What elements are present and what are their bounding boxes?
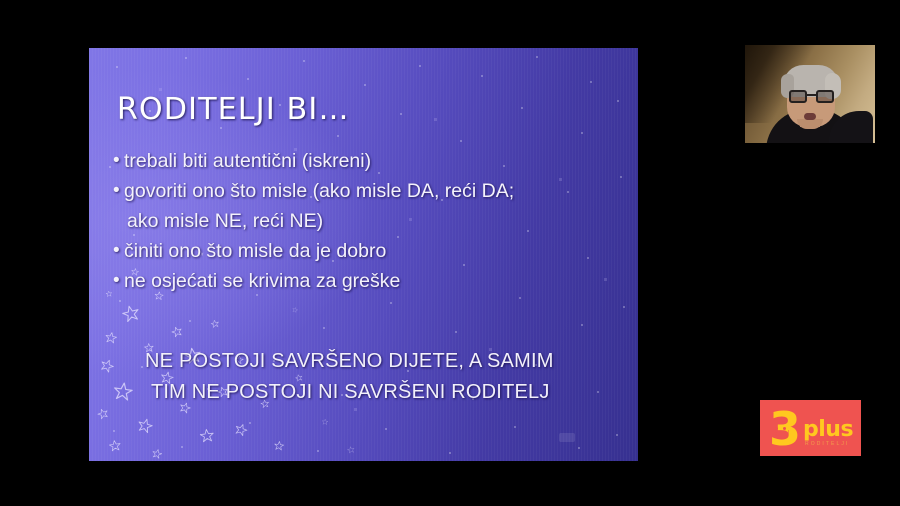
slide-title: RODITELJI BI…: [117, 92, 350, 127]
presentation-slide: RODITELJI BI… • trebali biti autentični …: [89, 48, 638, 461]
webcam-person-mouth: [804, 113, 816, 120]
closing-line-1: NE POSTOJI SAVRŠENO DIJETE, A SAMIM: [145, 346, 625, 377]
video-stage: RODITELJI BI… • trebali biti autentični …: [0, 0, 900, 506]
smiley-mouth: [775, 430, 789, 439]
bullet-marker-icon: •: [113, 236, 124, 266]
presenter-webcam-feed[interactable]: [745, 45, 875, 143]
logo-wordmark: plus: [803, 419, 853, 441]
webcam-person-glasses-icon: [788, 90, 835, 103]
list-item: • ne osjećati se krivima za greške: [113, 266, 613, 296]
list-item-label: govoriti ono što misle (ako misle DA, re…: [124, 176, 514, 206]
glasses-lens-left: [789, 90, 807, 103]
list-item-label: ako misle NE, reći NE): [124, 206, 323, 236]
bullet-marker-icon: •: [113, 266, 124, 296]
list-item: • činiti ono što misle da je dobro: [113, 236, 613, 266]
list-item: • govoriti ono što misle (ako misle DA, …: [113, 176, 613, 206]
logo-subtitle: RODITELJI: [805, 441, 849, 447]
list-item-continuation: • ako misle NE, reći NE): [113, 206, 613, 236]
glasses-lens-right: [816, 90, 834, 103]
glasses-bridge: [807, 94, 816, 96]
bullet-marker-icon: •: [113, 176, 124, 206]
logo-artwork: 3 plus RODITELJI: [760, 400, 861, 456]
list-item-label: ne osjećati se krivima za greške: [124, 266, 400, 296]
slide-closing-statement: NE POSTOJI SAVRŠENO DIJETE, A SAMIM TIM …: [145, 346, 625, 408]
channel-logo-3plus: 3 plus RODITELJI: [760, 400, 861, 456]
smiley-face-icon: [773, 425, 790, 440]
list-item: • trebali biti autentični (iskreni): [113, 146, 613, 176]
list-item-label: činiti ono što misle da je dobro: [124, 236, 386, 266]
closing-line-2: TIM NE POSTOJI NI SAVRŠENI RODITELJ: [145, 377, 625, 408]
bullet-marker-icon: •: [113, 146, 124, 176]
list-item-label: trebali biti autentični (iskreni): [124, 146, 371, 176]
slide-bullet-list: • trebali biti autentični (iskreni) • go…: [113, 146, 613, 296]
